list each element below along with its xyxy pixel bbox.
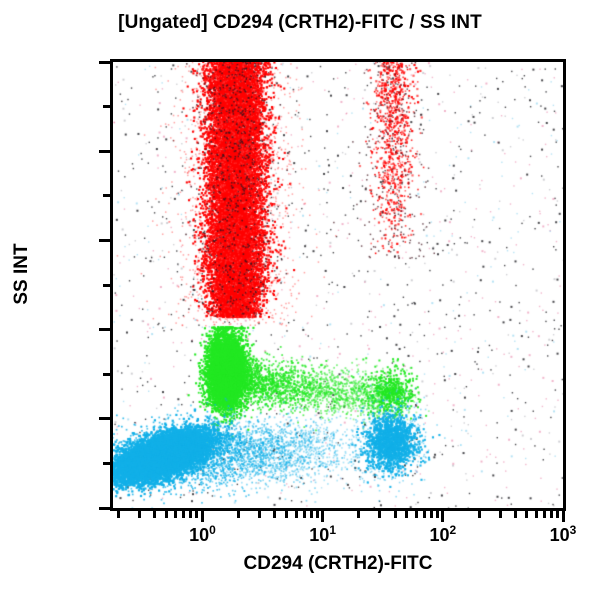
x-tick-minor — [165, 511, 168, 518]
x-axis-tick-labels: 100101102103 — [110, 524, 566, 550]
x-tick-minor — [415, 511, 418, 518]
x-tick-minor — [237, 511, 240, 518]
x-tick-label: 102 — [403, 524, 483, 544]
x-tick-major — [441, 511, 444, 522]
x-tick-minor — [535, 511, 538, 518]
x-tick-major — [201, 511, 204, 522]
x-tick-minor — [550, 511, 553, 518]
x-tick-minor — [499, 511, 502, 518]
x-tick-minor — [258, 511, 261, 518]
x-tick-minor — [436, 511, 439, 518]
x-tick-minor — [394, 511, 397, 518]
y-axis-tick-labels: 02004006008001000 — [0, 59, 600, 511]
x-tick-minor — [182, 511, 185, 518]
page-title: [Ungated] CD294 (CRTH2)-FITC / SS INT — [0, 12, 600, 34]
x-tick-major — [321, 511, 324, 522]
x-tick-label: 100 — [162, 524, 242, 544]
x-tick-minor — [303, 511, 306, 518]
x-tick-minor — [405, 511, 408, 518]
x-tick-minor — [195, 511, 198, 518]
x-tick-minor — [357, 511, 360, 518]
x-tick-minor — [525, 511, 528, 518]
x-tick-minor — [423, 511, 426, 518]
y-axis-title: SS INT — [11, 214, 33, 334]
x-tick-minor — [295, 511, 298, 518]
x-tick-major — [562, 511, 565, 522]
x-tick-minor — [556, 511, 559, 518]
flow-cytometry-plot: [Ungated] CD294 (CRTH2)-FITC / SS INT 02… — [0, 0, 600, 600]
x-tick-minor — [273, 511, 276, 518]
x-tick-minor — [153, 511, 156, 518]
x-axis-ticks — [110, 511, 566, 523]
x-tick-minor — [543, 511, 546, 518]
x-tick-minor — [514, 511, 517, 518]
x-tick-label: 103 — [523, 524, 600, 544]
x-tick-minor — [117, 511, 120, 518]
x-tick-minor — [430, 511, 433, 518]
x-tick-minor — [316, 511, 319, 518]
x-axis-title: CD294 (CRTH2)-FITC — [110, 553, 566, 575]
x-tick-label: 101 — [283, 524, 363, 544]
x-tick-minor — [189, 511, 192, 518]
x-tick-minor — [478, 511, 481, 518]
x-tick-minor — [285, 511, 288, 518]
x-tick-minor — [174, 511, 177, 518]
x-tick-minor — [138, 511, 141, 518]
x-tick-minor — [378, 511, 381, 518]
x-tick-minor — [310, 511, 313, 518]
